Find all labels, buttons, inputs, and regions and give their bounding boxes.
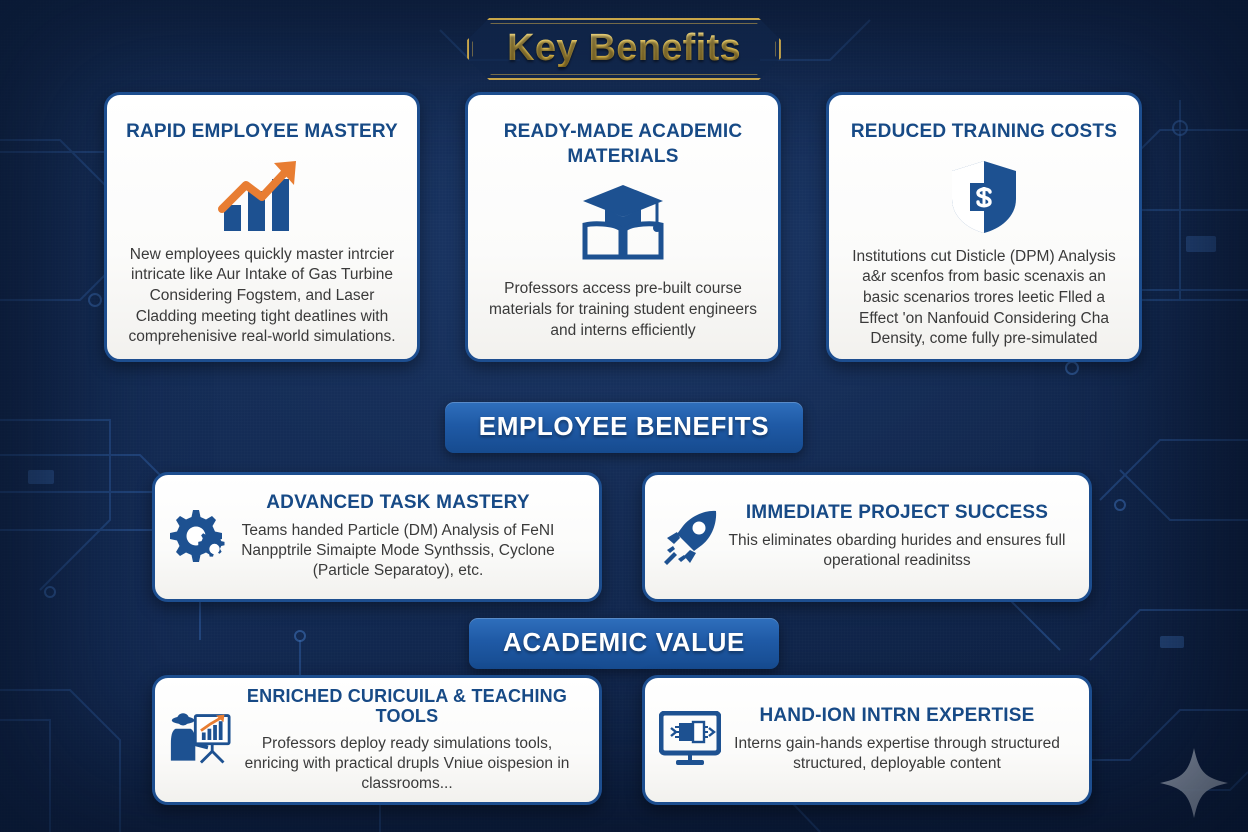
card-title: RAPID EMPLOYEE MASTERY <box>126 120 398 145</box>
section-banner-academic-value-container: ACADEMIC VALUE <box>0 618 1248 669</box>
section-banner-academic-value[interactable]: ACADEMIC VALUE <box>469 618 779 669</box>
page-title-container: Key Benefits <box>0 18 1248 80</box>
card-body: Institutions cut Disticle (DPM) Analysis… <box>847 247 1121 350</box>
academic-value-cards: ENRICHED CURICUILA & TEACHING TOOLS Prof… <box>152 675 1092 805</box>
benefit-card-reduced-training-costs[interactable]: REDUCED TRAINING COSTS Institutions cut … <box>826 92 1142 362</box>
shield-dollar-icon <box>948 159 1020 235</box>
infographic-canvas: Key Benefits RAPID EMPLOYEE MASTERY New … <box>0 0 1248 832</box>
presenter-board-icon <box>169 710 231 770</box>
card-text-block: ADVANCED TASK MASTERY Teams handed Parti… <box>215 492 585 581</box>
top-benefit-cards: RAPID EMPLOYEE MASTERY New employees qui… <box>104 92 1144 362</box>
graduation-book-icon <box>579 183 667 261</box>
card-text-block: HAND-ION INTRN EXPERTISE Interns gain-ha… <box>723 705 1075 774</box>
card-body: Professors access pre-built course mater… <box>486 279 760 341</box>
page-title-frame: Key Benefits <box>467 18 781 80</box>
card-body: This eliminates obarding hurides and ens… <box>723 531 1071 571</box>
page-title: Key Benefits <box>507 29 741 67</box>
benefit-card-rapid-employee-mastery[interactable]: RAPID EMPLOYEE MASTERY New employees qui… <box>104 92 420 362</box>
benefit-card-advanced-task-mastery[interactable]: ADVANCED TASK MASTERY Teams handed Parti… <box>152 472 602 602</box>
card-body: Interns gain-hands expertise through str… <box>723 734 1071 774</box>
card-title: ADVANCED TASK MASTERY <box>215 492 581 514</box>
card-title: READY-MADE ACADEMIC MATERIALS <box>486 120 760 169</box>
card-title: HAND-ION INTRN EXPERTISE <box>723 705 1071 727</box>
section-banner-employee-benefits-container: EMPLOYEE BENEFITS <box>0 402 1248 453</box>
card-body: Professors deploy ready simulations tool… <box>233 734 581 794</box>
employee-benefit-cards: ADVANCED TASK MASTERY Teams handed Parti… <box>152 472 1092 602</box>
card-title: REDUCED TRAINING COSTS <box>851 120 1117 145</box>
monitor-chip-icon <box>659 711 721 769</box>
card-text-block: IMMEDIATE PROJECT SUCCESS This eliminate… <box>723 502 1075 571</box>
benefit-card-immediate-project-success[interactable]: IMMEDIATE PROJECT SUCCESS This eliminate… <box>642 472 1092 602</box>
benefit-card-ready-made-academic-materials[interactable]: READY-MADE ACADEMIC MATERIALS Professors… <box>465 92 781 362</box>
card-text-block: ENRICHED CURICUILA & TEACHING TOOLS Prof… <box>233 686 585 795</box>
sparkle-decoration <box>1160 748 1228 818</box>
bar-chart-growth-icon <box>216 159 308 233</box>
benefit-card-hands-on-intern-expertise[interactable]: HAND-ION INTRN EXPERTISE Interns gain-ha… <box>642 675 1092 805</box>
rocket-icon <box>659 508 721 566</box>
card-body: New employees quickly master intrcier in… <box>125 245 399 348</box>
section-banner-employee-benefits[interactable]: EMPLOYEE BENEFITS <box>445 402 803 453</box>
benefit-card-enriched-curricula-teaching-tools[interactable]: ENRICHED CURICUILA & TEACHING TOOLS Prof… <box>152 675 602 805</box>
card-title: ENRICHED CURICUILA & TEACHING TOOLS <box>233 686 581 727</box>
card-body: Teams handed Particle (DM) Analysis of F… <box>215 521 581 581</box>
card-title: IMMEDIATE PROJECT SUCCESS <box>723 502 1071 524</box>
